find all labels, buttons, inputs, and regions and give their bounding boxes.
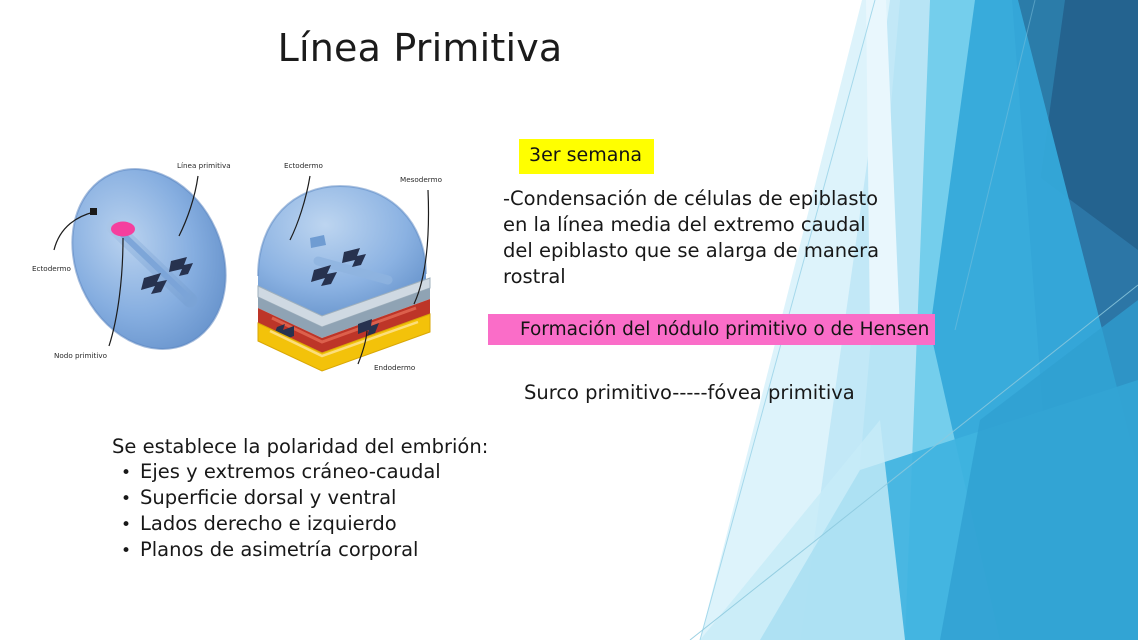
embryo-diagram-svg: Línea primitiva Ectodermo Nodo primitivo xyxy=(22,128,474,390)
label-nodo-primitivo: Nodo primitivo xyxy=(54,351,107,360)
deco-shape-bottom-sweep-2 xyxy=(940,300,1138,640)
surco-primitivo-line: Surco primitivo-----fóvea primitiva xyxy=(524,381,855,404)
deco-shape-steel-upper xyxy=(952,0,1065,340)
embryo-diagram-figure: Línea primitiva Ectodermo Nodo primitivo xyxy=(22,128,474,390)
hensen-highlight-label: Formación del nódulo primitivo o de Hens… xyxy=(488,314,935,345)
deco-hairline-3 xyxy=(955,0,1035,330)
slide-title: Línea Primitiva xyxy=(0,26,840,72)
list-item-label: Ejes y extremos cráneo-caudal xyxy=(140,459,542,485)
slide-canvas: Línea Primitiva xyxy=(0,0,1138,640)
deco-shape-pale-bottom xyxy=(700,420,905,640)
label-linea-primitiva: Línea primitiva xyxy=(177,161,231,170)
polarity-list-block: Se establece la polaridad del embrión: •… xyxy=(112,434,542,563)
bullet-icon: • xyxy=(112,540,140,563)
deco-shape-deep-teal xyxy=(1030,0,1138,250)
label-ectodermo-right: Ectodermo xyxy=(284,161,323,170)
week-highlight-label: 3er semana xyxy=(519,139,654,174)
epiblast-paragraph: -Condensación de células de epiblasto en… xyxy=(503,186,893,290)
label-ectodermo-left: Ectodermo xyxy=(32,264,71,273)
bullet-icon: • xyxy=(112,514,140,537)
deco-shape-dark-teal xyxy=(960,0,1138,640)
deco-shape-bottom-sweep xyxy=(760,380,1138,640)
bullet-icon: • xyxy=(112,462,140,485)
primitive-node-marker xyxy=(111,222,135,237)
list-item-label: Planos de asimetría corporal xyxy=(140,537,542,563)
leader-cap-ectodermo-left xyxy=(90,208,97,215)
bullet-icon: • xyxy=(112,488,140,511)
embryo-disc-left xyxy=(44,144,253,373)
list-item: • Ejes y extremos cráneo-caudal xyxy=(112,459,542,485)
embryo-disc-right xyxy=(258,186,430,371)
list-item-label: Superficie dorsal y ventral xyxy=(140,485,542,511)
list-item-label: Lados derecho e izquierdo xyxy=(140,511,542,537)
list-item: • Lados derecho e izquierdo xyxy=(112,511,542,537)
deco-shape-mid-blue xyxy=(930,0,1138,640)
polarity-lead-text: Se establece la polaridad del embrión: xyxy=(112,434,542,459)
list-item: • Planos de asimetría corporal xyxy=(112,537,542,563)
label-endodermo: Endodermo xyxy=(374,363,415,372)
label-mesodermo: Mesodermo xyxy=(400,175,442,184)
list-item: • Superficie dorsal y ventral xyxy=(112,485,542,511)
